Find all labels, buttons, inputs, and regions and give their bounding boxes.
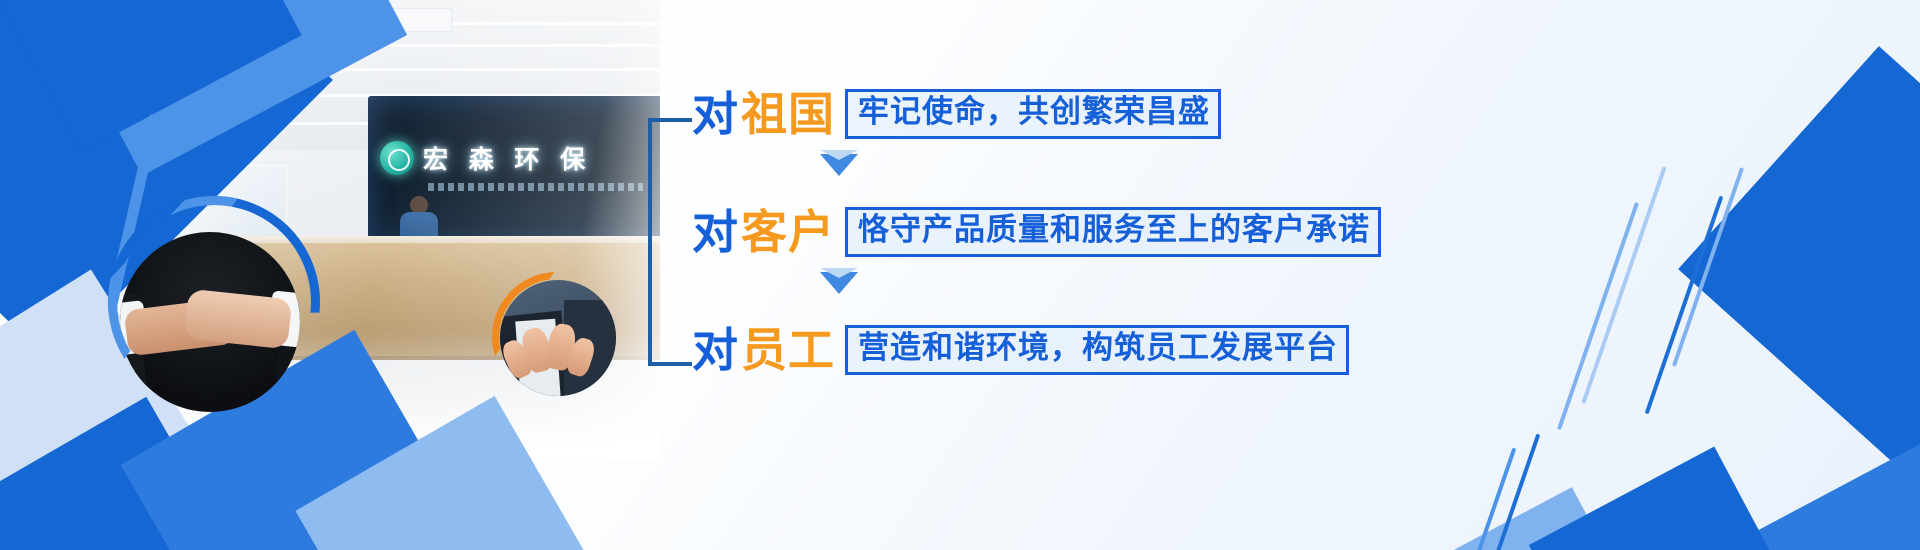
down-arrow-icon-1 — [820, 154, 858, 176]
value-statement-employee: 营造和谐环境，构筑员工发展平台 — [858, 330, 1338, 366]
value-lead-customer: 对客户 — [692, 209, 835, 255]
decor-line-1 — [1557, 202, 1639, 430]
value-statement-box-country: 牢记使命，共创繁荣昌盛 — [845, 89, 1221, 138]
bracket-connector — [648, 118, 692, 366]
values-rows: 对祖国 牢记使命，共创繁荣昌盛 对客户 恪守产品质量和服务至上的客户承诺 对员工… — [692, 78, 1528, 386]
down-arrow-icon-2 — [820, 272, 858, 294]
value-lead-country: 对祖国 — [692, 91, 835, 137]
value-statement-customer: 恪守产品质量和服务至上的客户承诺 — [858, 212, 1370, 248]
value-statement-box-customer: 恪守产品质量和服务至上的客户承诺 — [845, 207, 1381, 256]
decor-line-2 — [1581, 166, 1666, 404]
value-statement-country: 牢记使命，共创繁荣昌盛 — [858, 94, 1210, 130]
value-key-country: 祖国 — [741, 87, 835, 141]
value-prefix-employee: 对 — [692, 323, 739, 377]
decor-line-3 — [1645, 196, 1724, 415]
decor-bar-topleft — [0, 0, 190, 4]
value-lead-employee: 对员工 — [692, 327, 835, 373]
values-content: 对祖国 牢记使命，共创繁荣昌盛 对客户 恪守产品质量和服务至上的客户承诺 对员工… — [648, 78, 1528, 408]
value-prefix-customer: 对 — [692, 205, 739, 259]
value-key-employee: 员工 — [741, 323, 835, 377]
value-statement-box-employee: 营造和谐环境，构筑员工发展平台 — [845, 325, 1349, 374]
decor-kite-right-large — [1678, 46, 1920, 470]
value-row-customer: 对客户 恪守产品质量和服务至上的客户承诺 — [692, 196, 1528, 268]
decor-kite-right-bottom — [1740, 441, 1920, 550]
arrow-row-2 — [692, 268, 1528, 314]
company-values-banner: 宏 森 环 保 — [0, 0, 1920, 550]
value-key-customer: 客户 — [741, 205, 835, 259]
arrow-row-1 — [692, 150, 1528, 196]
value-prefix-country: 对 — [692, 87, 739, 141]
photo-collage: 宏 森 环 保 — [0, 0, 660, 550]
value-row-country: 对祖国 牢记使命，共创繁荣昌盛 — [692, 78, 1528, 150]
value-row-employee: 对员工 营造和谐环境，构筑员工发展平台 — [692, 314, 1528, 386]
